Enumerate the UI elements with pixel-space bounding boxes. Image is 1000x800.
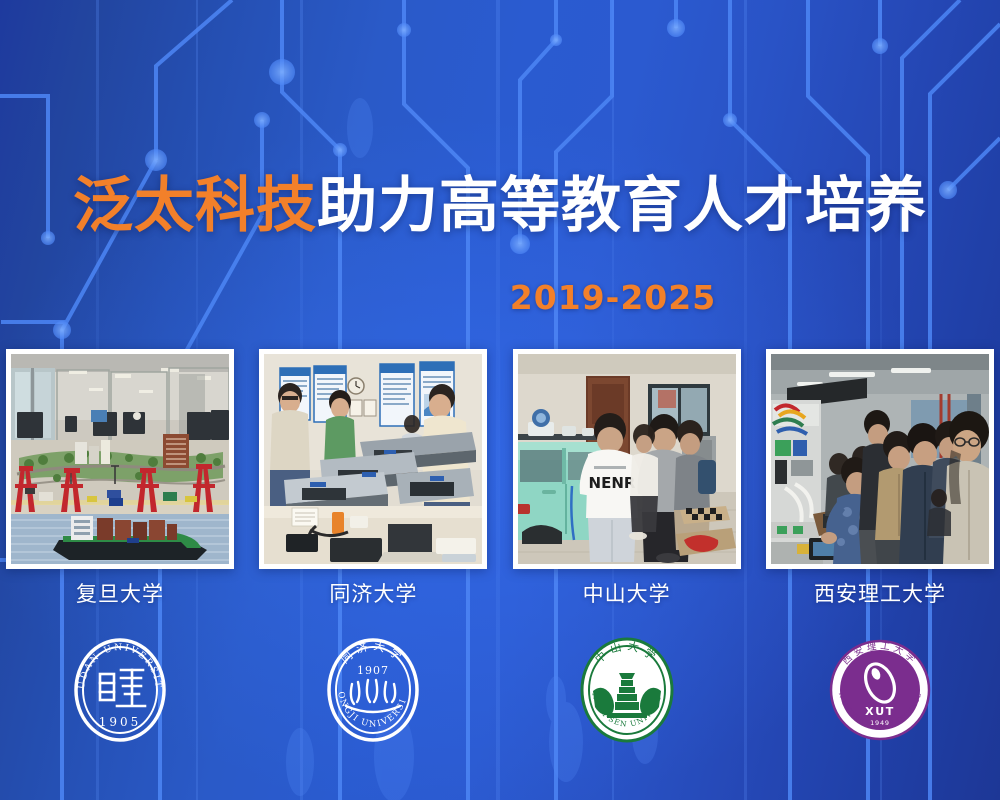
xut-center-text: XUT [865,705,895,718]
xian-university-of-technology-logo: 西安理工大学 XI'AN UNIVERSITY OF TECHNOLOGY XU… [826,635,934,745]
photo-industrial-equipment-demo-students [771,354,989,564]
title-main-text: 助力高等教育人才培养 [317,171,927,241]
logo-slot-xian-university-of-technology: 西安理工大学 XI'AN UNIVERSITY OF TECHNOLOGY XU… [766,630,994,750]
photo-card-sun-yat-sen[interactable]: NENR [513,349,741,569]
logo-slot-fudan: FUDAN UNIVERSITY 1905 [6,630,234,750]
photo-card-fudan[interactable] [6,349,234,569]
photo-automation-conveyor-lab-students [264,354,482,564]
logo-slot-sun-yat-sen: 中山大学 SUN YAT-SEN UNIVERSITY [513,630,741,750]
xut-year-text: 1949 [870,719,890,727]
university-logo-row: FUDAN UNIVERSITY 1905 同济大 [0,630,1000,750]
university-label-tongji: 同济大学 [259,578,487,608]
tongji-university-logo: 同济大学 TONGJI UNIVERSITY 1907 [320,634,426,746]
university-label-fudan: 复旦大学 [6,578,234,608]
university-label-sun-yat-sen: 中山大学 [513,578,741,608]
svg-text:同济大学: 同济大学 [339,638,409,666]
subtitle-year-range: 2019-2025 [510,278,716,317]
photo-card-tongji[interactable] [259,349,487,569]
university-label-row: 复旦大学 同济大学 中山大学 西安理工大学 [0,578,1000,608]
poster-subtitle: 2019-2025 [0,278,1000,317]
fudan-university-logo: FUDAN UNIVERSITY 1905 [67,634,173,746]
poster-title: 泛太科技助力高等教育人才培养 [0,176,1000,236]
photo-card-xian-university-of-technology[interactable] [766,349,994,569]
tongji-year-text: 1907 [357,664,389,677]
photo-autonomous-vehicle-lidar-students: NENR [518,354,736,564]
shirt-text-nenr: NENR [588,474,635,492]
sun-yat-sen-university-logo: 中山大学 SUN YAT-SEN UNIVERSITY [573,633,681,747]
fudan-year-text: 1905 [99,715,142,729]
photo-card-row: NENR [0,349,1000,571]
photo-port-city-scale-model-lab [11,354,229,564]
university-label-xian-university-of-technology: 西安理工大学 [766,578,994,608]
poster-canvas: 泛太科技助力高等教育人才培养 2019-2025 [0,0,1000,800]
title-brand-text: 泛太科技 [73,171,317,241]
logo-slot-tongji: 同济大学 TONGJI UNIVERSITY 1907 [259,630,487,750]
tongji-ring-text-cn: 同济大学 [339,638,409,666]
